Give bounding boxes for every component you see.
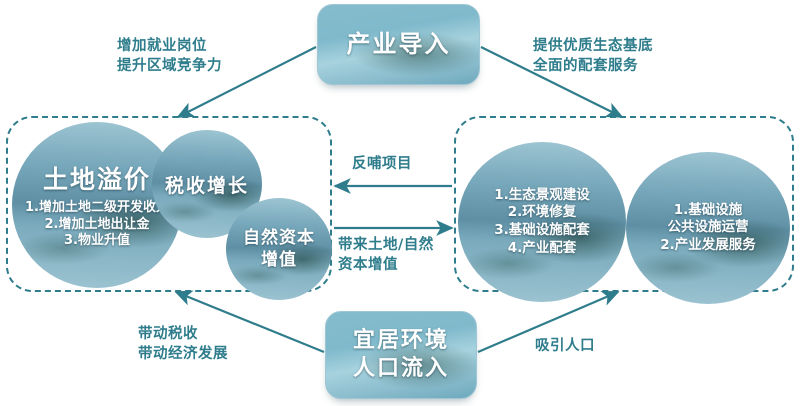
node-capital-label-2: 增值 xyxy=(261,249,297,271)
edge-label-bring-value-line-1: 带来土地/自然 xyxy=(338,235,434,255)
node-natural-capital[interactable]: 自然资本 增值 xyxy=(226,198,332,300)
edge-label-drive-economy-line-1: 带动税收 xyxy=(138,324,228,344)
edge-label-eco-base-line-2: 全面的配套服务 xyxy=(533,56,653,76)
node-land-item-1: 1.增加土地二级开发收入 xyxy=(25,200,169,217)
edge-label-drive-economy-line-2: 带动经济发展 xyxy=(138,344,228,364)
node-infra-item-3: 2.产业发展服务 xyxy=(660,237,756,255)
node-livable-label-1: 宜居环境 xyxy=(353,327,449,355)
node-tax-heading: 税收增长 xyxy=(165,171,249,198)
node-capital-label-1: 自然资本 xyxy=(243,227,315,249)
node-livable-label-2: 人口流入 xyxy=(353,355,449,383)
node-industry-label: 产业导入 xyxy=(347,29,451,60)
edge-label-feedback: 反哺项目 xyxy=(352,154,412,174)
node-land-item-2: 2.增加土地出让金 xyxy=(45,217,150,234)
node-ecology-item-3: 3.基础设施配套 xyxy=(494,222,590,240)
edge-label-eco-base-line-1: 提供优质生态基底 xyxy=(533,36,653,56)
edge-label-jobs-line-2: 提升区域竞争力 xyxy=(117,56,222,76)
node-livable-environment[interactable]: 宜居环境 人口流入 xyxy=(325,311,477,399)
node-ecology-item-4: 4.产业配套 xyxy=(508,240,577,258)
node-infrastructure-service[interactable]: 1.基础设施 公共设施运营 2.产业发展服务 xyxy=(626,152,790,304)
edge-label-drive-economy: 带动税收 带动经济发展 xyxy=(138,324,228,364)
node-infra-item-1: 1.基础设施 xyxy=(674,202,743,220)
edge-label-eco-base: 提供优质生态基底 全面的配套服务 xyxy=(533,36,653,76)
edge-label-attract-population: 吸引人口 xyxy=(535,336,595,356)
edge-label-attract-population-line-1: 吸引人口 xyxy=(535,336,595,356)
edge-label-jobs-line-1: 增加就业岗位 xyxy=(117,36,222,56)
node-ecology-item-2: 2.环境修复 xyxy=(508,204,577,222)
node-ecology-item-1: 1.生态景观建设 xyxy=(494,187,590,205)
node-industry-import[interactable]: 产业导入 xyxy=(317,4,480,85)
node-ecology-construction[interactable]: 1.生态景观建设 2.环境修复 3.基础设施配套 4.产业配套 xyxy=(458,142,626,302)
edge-label-bring-value-line-2: 资本增值 xyxy=(338,255,434,275)
diagram-canvas: 产业导入 宜居环境 人口流入 土地溢价 1.增加土地二级开发收入 2.增加土地出… xyxy=(0,0,800,406)
node-infra-item-2: 公共设施运营 xyxy=(668,219,749,237)
node-land-item-3: 3.物业升值 xyxy=(64,233,130,250)
edge-label-jobs: 增加就业岗位 提升区域竞争力 xyxy=(117,36,222,76)
edge-label-feedback-line-1: 反哺项目 xyxy=(352,154,412,174)
node-land-heading: 土地溢价 xyxy=(43,160,151,196)
edge-label-bring-value: 带来土地/自然 资本增值 xyxy=(338,235,434,275)
